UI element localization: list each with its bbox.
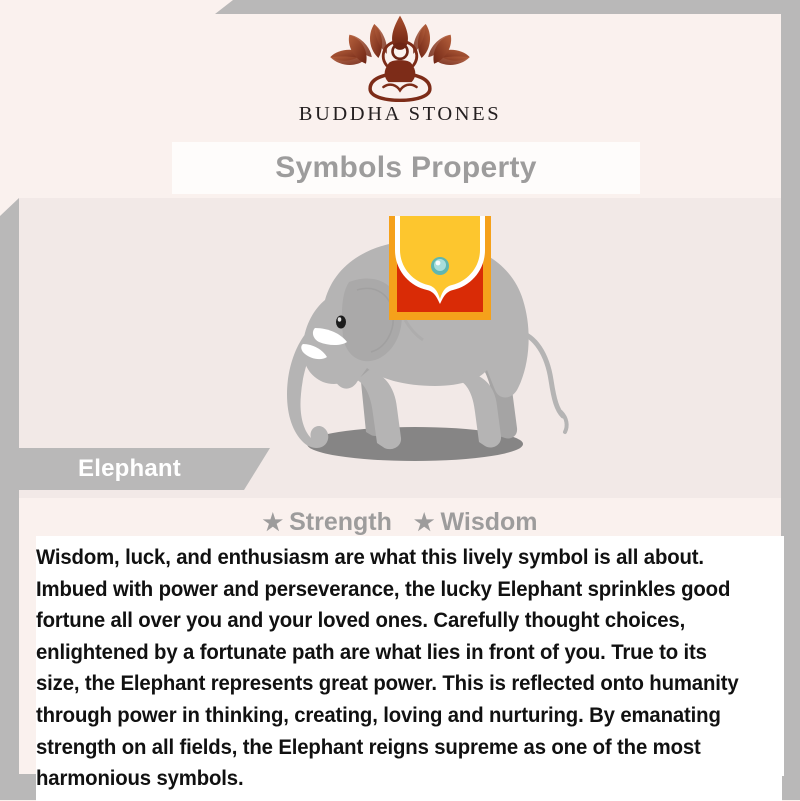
star-icon: ★ — [414, 511, 435, 534]
attribute-wisdom: ★ Wisdom — [414, 508, 538, 537]
attribute-strength: ★ Strength — [262, 508, 391, 537]
attribute-wisdom-label: Wisdom — [441, 508, 538, 537]
decorative-band-left — [0, 198, 19, 800]
symbol-description: Wisdom, luck, and enthusiasm are what th… — [36, 542, 748, 795]
symbol-property-card: BUDDHA STONES Symbols Property — [0, 0, 800, 800]
description-block: Wisdom, luck, and enthusiasm are what th… — [36, 538, 782, 801]
symbol-name: Elephant — [78, 455, 181, 483]
title-banner: Symbols Property — [172, 142, 640, 194]
brand-header: BUDDHA STONES — [19, 0, 781, 140]
card-content: BUDDHA STONES Symbols Property — [19, 0, 781, 800]
lotus-meditation-icon — [316, 14, 484, 102]
symbol-name-banner: Elephant — [0, 448, 270, 490]
page-title: Symbols Property — [275, 151, 537, 185]
star-icon: ★ — [262, 511, 283, 534]
attributes-row: ★ Strength ★ Wisdom — [19, 508, 781, 537]
attribute-strength-label: Strength — [289, 508, 392, 537]
brand-name: BUDDHA STONES — [299, 103, 502, 126]
